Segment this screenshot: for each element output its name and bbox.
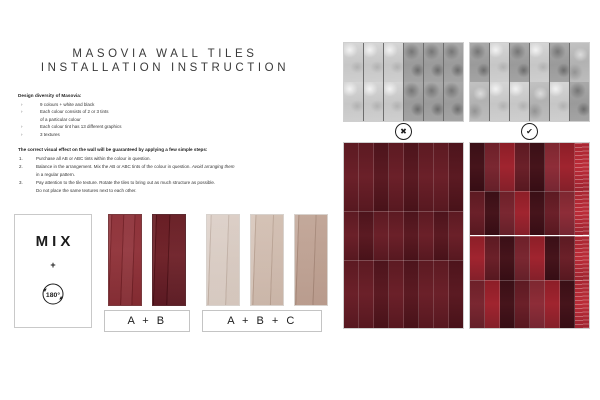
tile-column bbox=[470, 43, 490, 121]
step-text: Pay attention to the tile texture. Rotat… bbox=[36, 180, 215, 185]
step-number: 3. bbox=[19, 179, 23, 187]
tile-a-red bbox=[108, 214, 142, 306]
tile-column bbox=[384, 43, 404, 121]
step-emphasis: Avoid arranging them bbox=[192, 164, 235, 169]
list-item: ›Each colour consists of 2 or 3 tints bbox=[18, 108, 318, 116]
svg-text:180°: 180° bbox=[46, 291, 60, 299]
cross-glyph: ✖ bbox=[400, 128, 407, 136]
step-text: Balance in the arrangement. Mix the AB o… bbox=[36, 164, 192, 169]
bullet-icon: › bbox=[21, 108, 23, 116]
tile-column bbox=[570, 43, 589, 121]
page-title: MASOVIA WALL TILES INSTALLATION INSTRUCT… bbox=[0, 47, 330, 75]
list-item: ›Each colour tint has 13 different graph… bbox=[18, 123, 318, 131]
step-item: 1.Purchase all AB or ABC tints within th… bbox=[18, 155, 318, 163]
mix-label: MIX bbox=[36, 233, 75, 250]
tile-a-beige bbox=[206, 214, 240, 306]
step-text: Purchase all AB or ABC tints within the … bbox=[36, 156, 151, 161]
tile-column bbox=[530, 43, 550, 121]
ab-combo-label: A + B bbox=[104, 310, 190, 332]
tile-b-red bbox=[152, 214, 186, 306]
plus-symbol: + bbox=[50, 260, 55, 270]
steps-list: 1.Purchase all AB or ABC tints within th… bbox=[18, 155, 318, 195]
tile-column bbox=[404, 43, 424, 121]
wall-row bbox=[470, 191, 589, 235]
check-icon: ✔ bbox=[521, 123, 538, 140]
title-line-2: INSTALLATION INSTRUCTION bbox=[0, 61, 330, 75]
gray-tiles-alternating bbox=[469, 42, 590, 122]
list-item-label: Each colour consists of 2 or 3 tints bbox=[40, 109, 109, 114]
list-item: ›3 textures bbox=[18, 131, 318, 139]
mix-card: MIX + 180° bbox=[14, 214, 92, 328]
abc-swatch-group bbox=[206, 214, 328, 306]
installation-steps-section: The correct visual effect on the wall wi… bbox=[18, 146, 318, 195]
design-diversity-list: ›9 colours + white and black ›Each colou… bbox=[18, 101, 318, 139]
rotate-180-icon: 180° bbox=[36, 279, 70, 309]
bullet-icon: › bbox=[21, 131, 23, 139]
step-text: Do not place the same textures next to e… bbox=[36, 188, 137, 193]
red-wall-mixed bbox=[469, 142, 590, 329]
step-number: 2. bbox=[19, 163, 23, 171]
tile-c-beige bbox=[294, 214, 328, 306]
instruction-sheet: MASOVIA WALL TILES INSTALLATION INSTRUCT… bbox=[0, 0, 600, 400]
tile-column bbox=[444, 43, 463, 121]
tile-column bbox=[550, 43, 570, 121]
list-item: ›9 colours + white and black bbox=[18, 101, 318, 109]
wall-row bbox=[344, 260, 463, 328]
check-glyph: ✔ bbox=[526, 128, 533, 136]
tile-column bbox=[364, 43, 384, 121]
tile-column bbox=[424, 43, 444, 121]
list-item-label: of a particular colour bbox=[40, 117, 81, 122]
design-diversity-heading: Design diversity of Masovia: bbox=[18, 92, 318, 100]
design-diversity-section: Design diversity of Masovia: ›9 colours … bbox=[18, 92, 318, 139]
wall-row bbox=[344, 143, 463, 211]
step-item: 2.Balance in the arrangement. Mix the AB… bbox=[18, 163, 318, 171]
gray-tiles-grouped bbox=[343, 42, 464, 122]
step-item: 3.Pay attention to the tile texture. Rot… bbox=[18, 179, 318, 187]
tile-column bbox=[510, 43, 530, 121]
list-item-label: Each colour tint has 13 different graphi… bbox=[40, 124, 121, 129]
tile-column bbox=[490, 43, 510, 121]
wall-row bbox=[470, 143, 589, 191]
tile-column bbox=[344, 43, 364, 121]
step-number: 1. bbox=[19, 155, 23, 163]
abc-combo-label: A + B + C bbox=[202, 310, 322, 332]
list-item-label: 3 textures bbox=[40, 132, 60, 137]
wall-row bbox=[344, 211, 463, 259]
list-item-label: 9 colours + white and black bbox=[40, 102, 94, 107]
wall-row bbox=[470, 236, 589, 280]
list-item: of a particular colour bbox=[18, 116, 318, 124]
ab-swatch-group bbox=[108, 214, 186, 306]
steps-heading: The correct visual effect on the wall wi… bbox=[18, 146, 318, 154]
wall-row bbox=[470, 280, 589, 328]
cross-icon: ✖ bbox=[395, 123, 412, 140]
tile-b-beige bbox=[250, 214, 284, 306]
red-wall-uniform bbox=[343, 142, 464, 329]
step-item: Do not place the same textures next to e… bbox=[18, 187, 318, 195]
bullet-icon: › bbox=[21, 101, 23, 109]
step-text: in a regular pattern. bbox=[36, 172, 75, 177]
step-item: in a regular pattern. bbox=[18, 171, 318, 179]
title-line-1: MASOVIA WALL TILES bbox=[0, 47, 330, 61]
bullet-icon: › bbox=[21, 123, 23, 131]
